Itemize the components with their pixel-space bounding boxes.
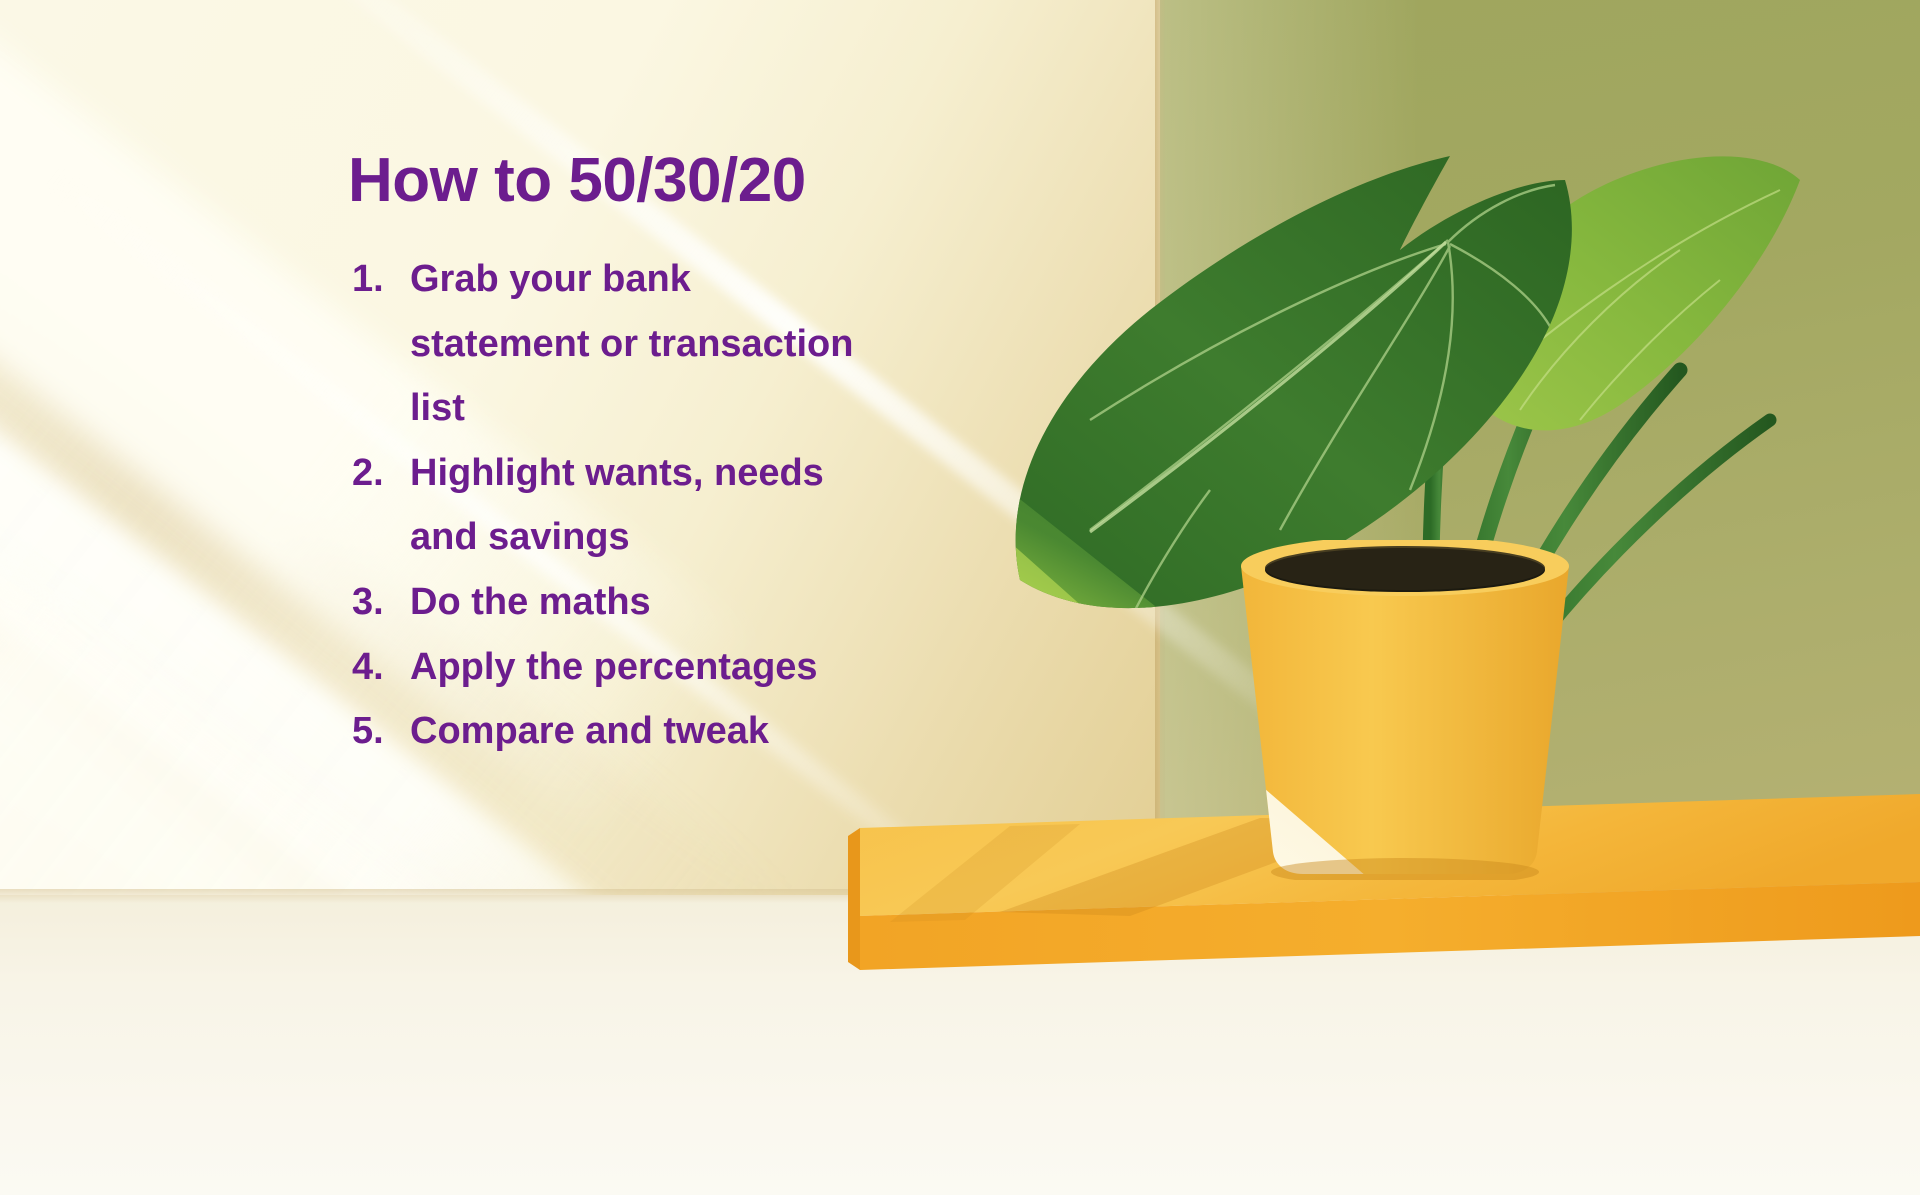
steps-list: Grab your bank statement or transaction … [348, 247, 968, 764]
list-item: Compare and tweak [348, 699, 880, 764]
plant-pot-illustration [1225, 540, 1585, 880]
list-item: Do the maths [348, 570, 880, 635]
list-item: Apply the percentages [348, 635, 880, 700]
page-title: How to 50/30/20 [348, 148, 968, 213]
list-item: Highlight wants, needs and savings [348, 441, 880, 570]
floor-wall-joint [0, 889, 920, 903]
slide-text-block: How to 50/30/20 Grab your bank statement… [348, 148, 968, 764]
slide-canvas: How to 50/30/20 Grab your bank statement… [0, 0, 1920, 1195]
shelf-end-cap [848, 828, 860, 970]
list-item: Grab your bank statement or transaction … [348, 247, 880, 441]
